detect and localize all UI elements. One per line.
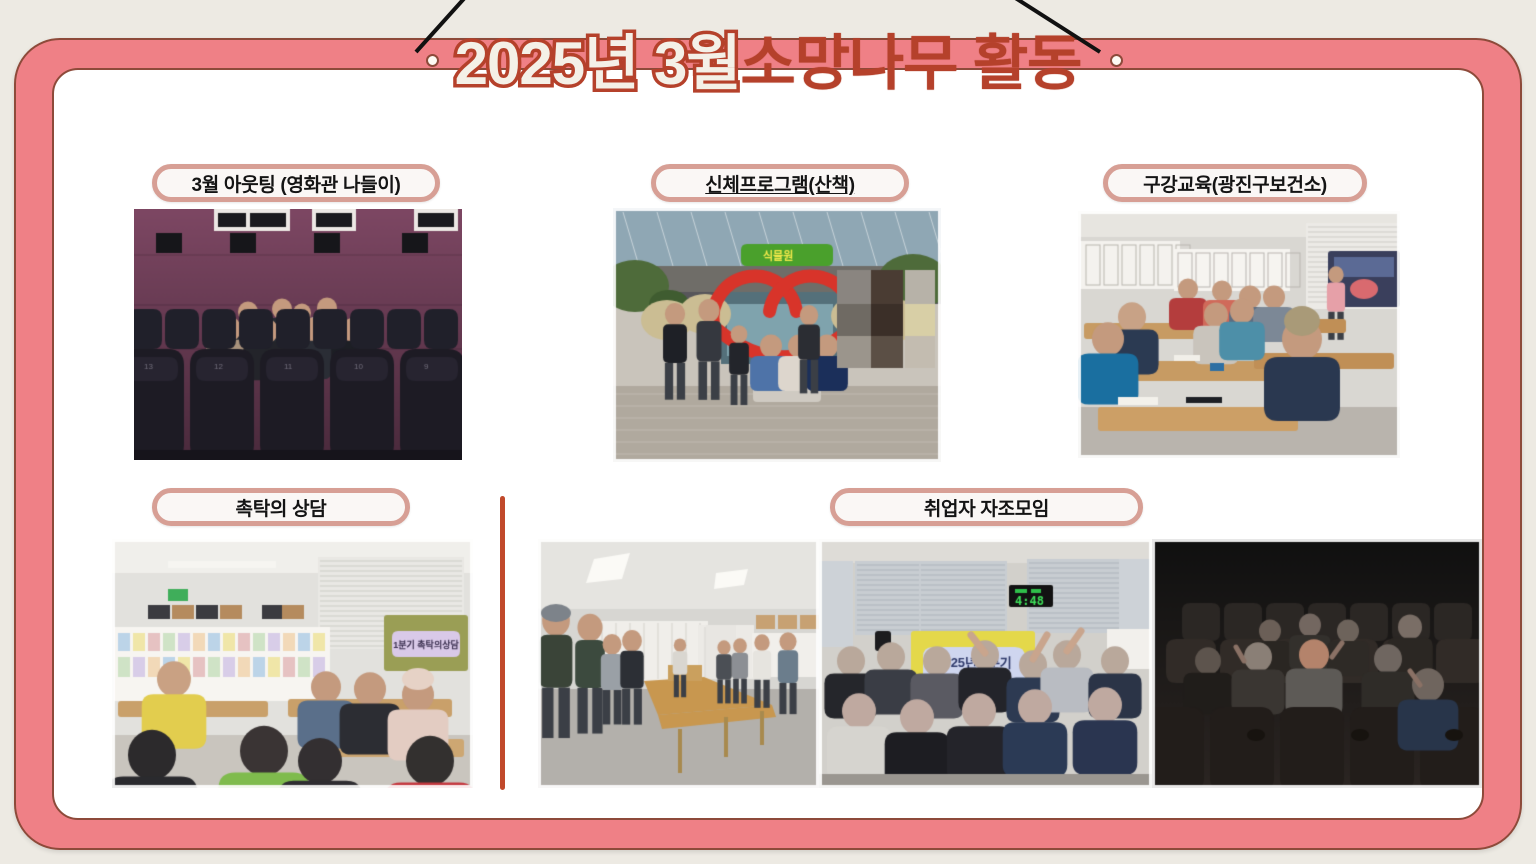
title-year-month: 2025년 3월 bbox=[455, 34, 741, 94]
label-employed-selfhelp-text: 취업자 자조모임 bbox=[924, 494, 1049, 521]
photo-finger-heart-group bbox=[819, 539, 1152, 788]
label-oral-education: 구강교육(광진구보건소) bbox=[1103, 164, 1367, 202]
photo-counseling-room bbox=[112, 539, 473, 788]
title-program-name: 소망나무 활동 bbox=[741, 34, 1082, 94]
poster-root: 2025년 3월소망나무 활동 3월 아웃팅 (영화관 나들이) 신체프로그램(… bbox=[0, 0, 1536, 864]
section-divider bbox=[500, 496, 505, 790]
label-oral-education-text: 구강교육(광진구보건소) bbox=[1143, 170, 1327, 197]
page-title: 2025년 3월소망나무 활동 bbox=[0, 34, 1536, 94]
label-physical-program-text: 신체프로그램(산책) bbox=[705, 170, 855, 197]
label-outing: 3월 아웃팅 (영화관 나들이) bbox=[152, 164, 440, 202]
label-employed-selfhelp: 취업자 자조모임 bbox=[830, 488, 1143, 526]
photo-cinema-group bbox=[134, 209, 462, 460]
label-doctor-counseling: 촉탁의 상담 bbox=[152, 488, 410, 526]
label-physical-program: 신체프로그램(산책) bbox=[651, 164, 909, 202]
label-outing-text: 3월 아웃팅 (영화관 나들이) bbox=[191, 170, 400, 197]
photo-dental-class bbox=[1078, 211, 1400, 458]
photo-cinema-dark bbox=[1152, 539, 1482, 788]
label-doctor-counseling-text: 촉탁의 상담 bbox=[236, 494, 327, 521]
photo-meeting-standing bbox=[538, 539, 819, 788]
photo-outdoor-walk bbox=[613, 208, 941, 462]
